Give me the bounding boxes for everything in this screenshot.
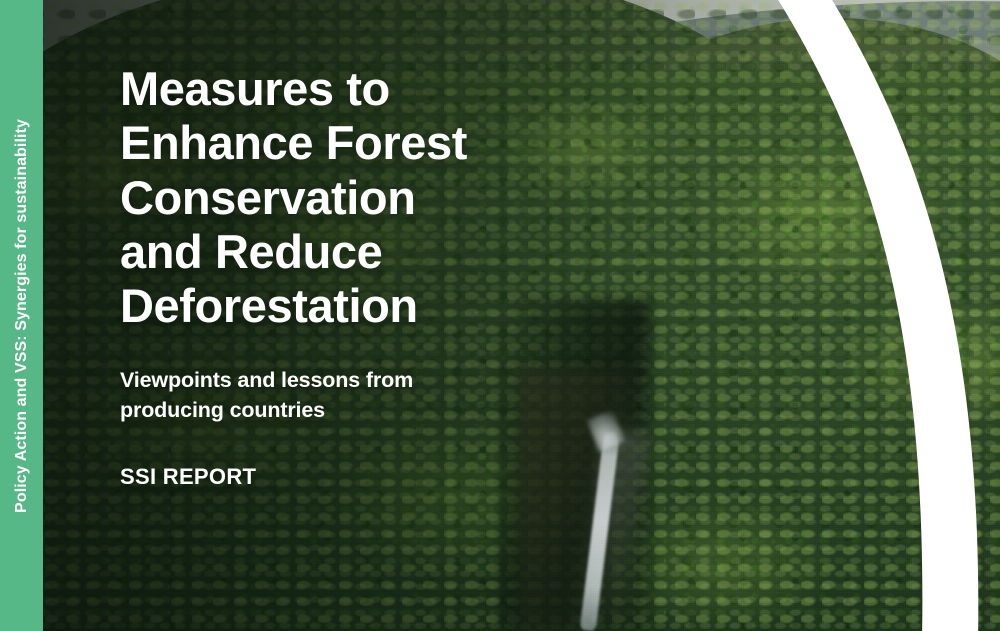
report-cover: Policy Action and VSS: Synergies for sus… — [0, 0, 1000, 631]
cover-text-block: Measures to Enhance Forest Conservation … — [120, 62, 590, 490]
title-line-3: Conservation — [120, 171, 590, 225]
spine-series-label: Policy Action and VSS: Synergies for sus… — [14, 119, 30, 513]
page-subtitle: Viewpoints and lessons from producing co… — [120, 366, 520, 425]
title-line-5: Deforestation — [120, 279, 590, 333]
title-line-4: and Reduce — [120, 225, 590, 279]
title-line-2: Enhance Forest — [120, 116, 590, 170]
report-kicker: SSI REPORT — [120, 464, 590, 490]
subtitle-line-2: producing countries — [120, 396, 520, 426]
spine-banner: Policy Action and VSS: Synergies for sus… — [0, 0, 43, 631]
page-title: Measures to Enhance Forest Conservation … — [120, 62, 590, 333]
subtitle-line-1: Viewpoints and lessons from — [120, 366, 520, 396]
title-line-1: Measures to — [120, 62, 590, 116]
